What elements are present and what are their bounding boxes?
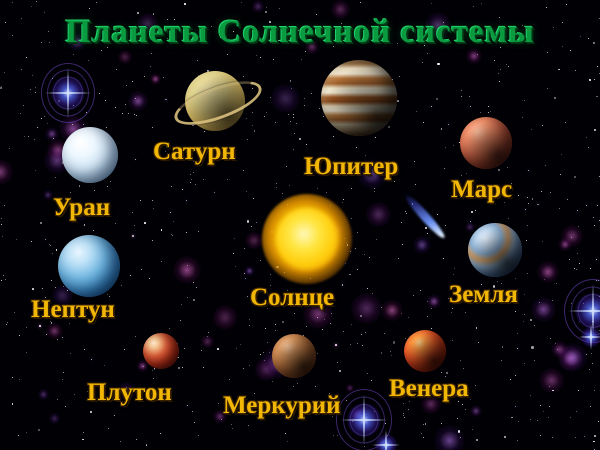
star-dot	[560, 174, 561, 175]
star-dot	[35, 87, 36, 88]
star-dot	[462, 404, 463, 405]
star-dot	[384, 333, 385, 334]
star-dot	[357, 269, 358, 270]
star-dot	[500, 69, 501, 70]
planet-mercury	[272, 334, 316, 378]
star-dot	[365, 332, 366, 333]
star-dot	[106, 127, 107, 128]
star-dot	[523, 321, 525, 323]
star-dot	[517, 348, 518, 349]
star-dot	[330, 323, 331, 324]
star-dot	[381, 352, 383, 354]
star-dot	[4, 72, 5, 73]
star-dot	[339, 370, 341, 372]
star-dot	[141, 269, 142, 270]
nebula-glow	[244, 266, 254, 276]
nebula-glow	[413, 236, 431, 254]
star-dot	[408, 317, 409, 318]
nebula-glow	[271, 84, 300, 113]
nebula-glow	[213, 305, 238, 330]
star-dot	[154, 369, 155, 370]
star-dot	[550, 338, 551, 339]
star-dot	[414, 161, 415, 162]
star-dot	[441, 128, 443, 130]
star-dot	[590, 268, 591, 269]
nebula-glow	[531, 297, 556, 322]
star-dot	[534, 325, 535, 326]
star-dot	[335, 344, 337, 346]
star-dot	[50, 245, 51, 246]
star-dot	[478, 342, 479, 343]
star-dot	[471, 211, 473, 213]
star-dot	[463, 368, 464, 369]
page-title: Планеты Солнечной системы	[0, 14, 600, 51]
star-dot	[460, 360, 461, 361]
star-dot	[596, 259, 597, 260]
star-dot	[404, 417, 405, 418]
star-dot	[18, 435, 19, 436]
star-dot	[260, 354, 261, 355]
star-dot	[198, 231, 199, 232]
star-dot	[427, 316, 428, 317]
star-dot	[172, 235, 173, 236]
star-dot	[247, 296, 248, 297]
star-dot	[443, 258, 444, 259]
star-dot	[420, 290, 421, 291]
star-dot	[246, 191, 247, 192]
nebula-glow	[245, 232, 263, 250]
star-dot	[441, 372, 442, 373]
star-dot	[252, 125, 253, 126]
star-dot	[542, 125, 543, 126]
star-dot	[144, 76, 146, 78]
star-dot	[524, 314, 525, 315]
star-dot	[37, 127, 38, 128]
label-mars: Марс	[451, 176, 512, 204]
star-dot	[552, 437, 553, 438]
star-dot	[132, 212, 133, 213]
star-dot	[65, 406, 66, 407]
star-dot	[63, 372, 64, 373]
star-dot	[201, 350, 202, 351]
star-dot	[287, 441, 288, 442]
star-dot	[20, 113, 21, 114]
star-dot	[337, 435, 338, 436]
star-dot	[152, 240, 153, 241]
star-dot	[276, 183, 277, 184]
star-dot	[40, 222, 42, 224]
star-dot	[51, 280, 52, 281]
star-dot	[352, 421, 353, 422]
label-jupiter: Юпитер	[304, 153, 398, 181]
star-dot	[39, 325, 41, 327]
star-dot	[375, 137, 376, 138]
star-dot	[286, 166, 287, 167]
star-dot	[136, 115, 137, 116]
label-venus: Венера	[389, 375, 469, 403]
nebula-glow	[46, 323, 62, 339]
star-dot	[517, 440, 518, 441]
star-dot	[26, 57, 27, 58]
star-dot	[405, 211, 406, 212]
star-dot	[476, 327, 478, 329]
star-dot	[194, 422, 195, 423]
star-dot	[1, 218, 2, 219]
star-dot	[52, 253, 53, 254]
star-dot	[23, 105, 24, 106]
star-dot	[297, 383, 298, 384]
star-dot	[461, 90, 462, 91]
star-dot	[293, 149, 294, 150]
star-dot	[488, 106, 489, 107]
star-dot	[16, 239, 17, 240]
solar-system-slide: Планеты Солнечной системы Сатурн Юпитер …	[0, 0, 600, 450]
star-dot	[437, 63, 439, 65]
planet-jupiter	[321, 60, 397, 136]
star-dot	[597, 205, 598, 206]
star-dot	[240, 344, 241, 345]
star-dot	[326, 192, 327, 193]
star-dot	[252, 112, 253, 113]
star-dot	[46, 334, 47, 335]
star-dot	[530, 395, 531, 396]
star-dot	[586, 205, 587, 206]
star-dot	[522, 117, 523, 118]
star-dot	[21, 69, 22, 70]
star-dot	[360, 2, 361, 3]
star-dot	[423, 437, 424, 438]
star-dot	[421, 433, 422, 434]
star-dot	[57, 399, 58, 400]
star-dot	[402, 244, 403, 245]
star-dot	[182, 189, 183, 190]
star-dot	[235, 266, 236, 267]
star-dot	[152, 370, 153, 371]
star-dot	[541, 191, 542, 192]
nebula-glow	[150, 73, 161, 84]
nebula-glow	[561, 225, 583, 247]
star-dot	[3, 275, 4, 276]
star-dot	[436, 98, 438, 100]
star-dot	[12, 2, 13, 3]
star-dot	[498, 73, 499, 74]
star-dot	[73, 54, 74, 55]
star-dot	[89, 8, 90, 9]
star-dot	[374, 191, 375, 192]
star-dot	[549, 406, 550, 407]
star-dot	[569, 259, 570, 260]
star-dot	[590, 406, 591, 407]
star-dot	[282, 321, 284, 323]
star-dot	[465, 409, 466, 410]
star-dot	[184, 348, 185, 349]
star-dot	[153, 208, 154, 209]
star-dot	[62, 337, 63, 338]
star-dot	[475, 385, 476, 386]
star-dot	[502, 346, 504, 348]
star-dot	[444, 168, 445, 169]
star-dot	[265, 328, 266, 329]
star-dot	[279, 8, 280, 9]
star-dot	[361, 334, 362, 335]
star-dot	[265, 11, 267, 13]
nebula-glow	[173, 256, 202, 285]
star-dot	[445, 147, 446, 148]
star-dot	[264, 360, 265, 361]
star-dot	[110, 181, 111, 182]
star-dot	[461, 96, 462, 97]
star-dot	[527, 225, 528, 226]
star-dot	[161, 261, 162, 262]
star-dot	[356, 147, 357, 148]
star-dot	[305, 51, 307, 53]
star-dot	[431, 3, 432, 4]
star-dot	[323, 116, 324, 117]
earth-shading	[468, 223, 522, 277]
star-dot	[530, 419, 531, 420]
star-dot	[578, 390, 579, 391]
star-dot	[152, 127, 153, 128]
star-dot	[446, 372, 448, 374]
star-dot	[149, 278, 150, 279]
star-dot	[249, 319, 250, 320]
star-dot	[30, 89, 31, 90]
star-dot	[547, 88, 548, 89]
star-dot	[144, 222, 146, 224]
star-dot	[531, 346, 533, 348]
star-dot	[441, 423, 442, 424]
star-dot	[552, 390, 554, 392]
star-dot	[593, 217, 594, 218]
star-dot	[506, 64, 507, 65]
star-dot	[304, 98, 305, 99]
star-dot	[243, 170, 244, 171]
star-dot	[84, 349, 86, 351]
star-dot	[545, 165, 546, 166]
star-dot	[594, 129, 596, 131]
star-dot	[266, 112, 267, 113]
star-dot	[594, 312, 595, 313]
star-dot	[74, 394, 75, 395]
star-dot	[1, 280, 2, 281]
star-dot	[58, 100, 60, 102]
star-dot	[415, 184, 416, 185]
star-dot	[594, 435, 596, 437]
star-dot	[319, 108, 320, 109]
star-dot	[234, 238, 235, 239]
star-dot	[62, 379, 63, 380]
star-dot	[198, 435, 199, 436]
star-dot	[190, 174, 191, 175]
star-dot	[44, 12, 45, 13]
star-dot	[132, 235, 134, 237]
star-dot	[457, 418, 458, 419]
star-dot	[115, 107, 116, 108]
star-dot	[128, 113, 129, 114]
star-dot	[448, 124, 449, 125]
star-dot	[217, 348, 219, 350]
star-dot	[317, 317, 319, 319]
star-dot	[296, 123, 297, 124]
star-dot	[346, 400, 347, 401]
star-dot	[114, 415, 115, 416]
star-dot	[537, 420, 538, 421]
star-dot	[266, 7, 267, 8]
star-dot	[26, 352, 27, 353]
star-dot	[571, 237, 572, 238]
star-dot	[272, 381, 273, 382]
star-dot	[184, 3, 186, 5]
star-dot	[116, 69, 118, 71]
star-dot	[355, 248, 356, 249]
star-dot	[152, 200, 153, 201]
star-dot	[542, 241, 543, 242]
star-dot	[515, 375, 516, 376]
nebula-glow	[366, 202, 391, 227]
star-dot	[218, 403, 219, 404]
star-dot	[427, 53, 428, 54]
star-dot	[315, 386, 316, 387]
star-dot	[248, 425, 249, 426]
star-dot	[275, 330, 276, 331]
star-dot	[171, 186, 172, 187]
star-dot	[526, 240, 527, 241]
star-dot	[423, 424, 424, 425]
star-dot	[399, 76, 400, 77]
star-dot	[390, 351, 391, 352]
star-dot	[499, 81, 500, 82]
star-dot	[256, 55, 257, 56]
nebula-glow	[43, 190, 53, 200]
star-dot	[579, 263, 580, 264]
star-dot	[2, 236, 3, 237]
star-dot	[584, 436, 585, 437]
label-mercury: Меркурий	[223, 392, 341, 420]
star-dot	[324, 319, 325, 320]
star-dot	[299, 138, 301, 140]
star-dot	[543, 411, 544, 412]
star-dot	[586, 354, 587, 355]
label-saturn: Сатурн	[153, 138, 236, 166]
star-dot	[427, 301, 428, 302]
star-dot	[288, 114, 289, 115]
star-dot	[498, 169, 500, 171]
star-dot	[289, 185, 290, 186]
star-dot	[594, 225, 595, 226]
mercury-shading	[272, 334, 316, 378]
star-dot	[525, 209, 526, 210]
star-dot	[105, 100, 106, 101]
star-dot	[575, 437, 576, 438]
star-dot	[481, 3, 482, 4]
star-dot	[350, 344, 351, 345]
star-dot	[454, 268, 455, 269]
star-dot	[591, 353, 592, 354]
star-dot	[121, 285, 122, 286]
star-dot	[83, 432, 84, 433]
star-dot	[364, 254, 365, 255]
star-dot	[24, 136, 25, 137]
star-dot	[445, 225, 446, 226]
star-dot	[143, 366, 144, 367]
star-dot	[416, 111, 417, 112]
star-dot	[306, 144, 307, 145]
star-dot	[293, 117, 294, 118]
star-dot	[598, 421, 599, 422]
star-dot	[19, 379, 20, 380]
star-dot	[556, 283, 557, 284]
star-dot	[594, 79, 595, 80]
star-dot	[193, 299, 195, 301]
star-dot	[376, 239, 378, 241]
star-dot	[385, 423, 386, 424]
star-dot	[504, 436, 506, 438]
star-dot	[475, 210, 476, 211]
star-dot	[132, 81, 133, 82]
star-dot	[14, 312, 15, 313]
star-dot	[293, 386, 294, 387]
star-dot	[460, 437, 461, 438]
star-dot	[451, 312, 452, 313]
star-dot	[19, 335, 20, 336]
star-dot	[304, 105, 305, 106]
star-dot	[371, 380, 372, 381]
star-dot	[197, 60, 198, 61]
star-dot	[94, 190, 95, 191]
star-dot	[469, 96, 470, 97]
star-dot	[290, 121, 291, 122]
star-dot	[84, 224, 86, 226]
star-dot	[408, 409, 409, 410]
star-sun	[262, 194, 352, 284]
nebula-glow	[381, 300, 403, 322]
star-dot	[452, 340, 453, 341]
star-dot	[362, 345, 363, 346]
star-dot	[387, 435, 388, 436]
star-dot	[275, 324, 276, 325]
star-dot	[431, 106, 432, 107]
star-dot	[31, 6, 32, 7]
star-dot	[510, 379, 511, 380]
planet-neptune	[58, 235, 120, 297]
star-dot	[187, 297, 188, 298]
star-dot	[508, 66, 509, 67]
star-dot	[42, 288, 43, 289]
star-dot	[559, 208, 560, 209]
star-dot	[360, 315, 362, 317]
nebula-glow	[427, 294, 442, 309]
star-dot	[196, 287, 197, 288]
nebula-glow	[351, 293, 382, 324]
star-dot	[31, 241, 32, 242]
star-dot	[26, 432, 27, 433]
nebula-glow	[465, 222, 475, 232]
label-earth: Земля	[449, 281, 518, 309]
star-dot	[311, 93, 312, 94]
nebula-glow	[49, 413, 60, 424]
mars-shading	[460, 117, 512, 169]
star-dot	[575, 70, 576, 71]
star-dot	[540, 435, 541, 436]
label-sun: Солнце	[250, 284, 334, 312]
star-dot	[596, 96, 598, 98]
star-dot	[574, 176, 576, 178]
label-neptune: Нептун	[31, 296, 115, 324]
star-dot	[351, 324, 352, 325]
star-dot	[136, 439, 137, 440]
star-dot	[290, 80, 292, 82]
star-dot	[190, 182, 191, 183]
